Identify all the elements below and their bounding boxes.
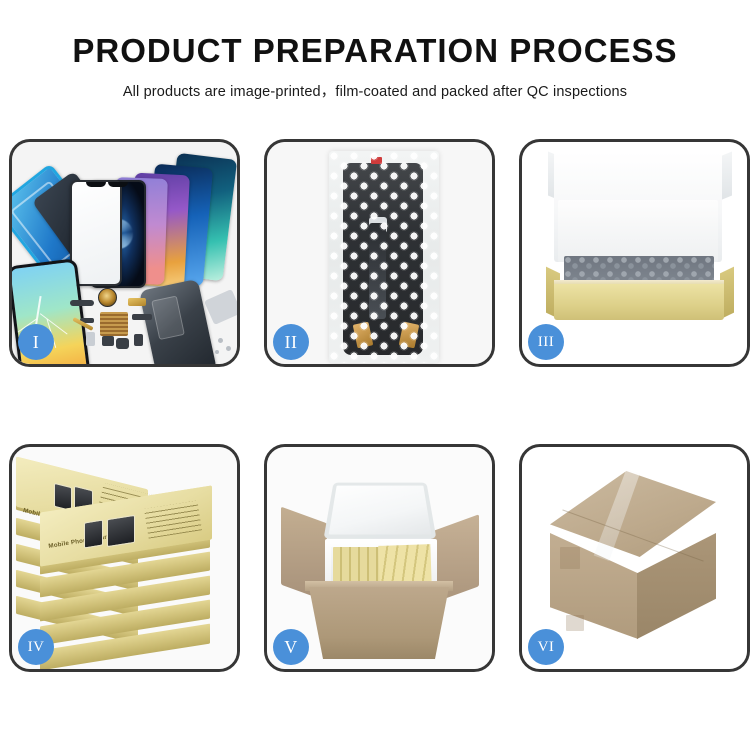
step-3-image: III (522, 142, 747, 364)
process-step-panel-1[interactable]: I (9, 139, 240, 367)
process-step-panel-6[interactable]: VI (519, 444, 750, 672)
button-part (134, 334, 143, 346)
phone-notch (108, 182, 128, 187)
page-header: PRODUCT PREPARATION PROCESS All products… (0, 0, 750, 101)
protector-notch (86, 182, 106, 187)
flex-cable-part (128, 298, 146, 306)
step-6-image: VI (522, 447, 747, 669)
page-subtitle: All products are image-printed，film-coat… (0, 80, 750, 101)
yellow-boxes-inside (378, 544, 431, 586)
step-badge-6: VI (528, 629, 564, 665)
process-step-panel-5[interactable]: V (264, 444, 495, 672)
step-badge-2: II (273, 324, 309, 360)
bracket-part (132, 314, 152, 320)
step-badge-3: III (528, 324, 564, 360)
screw-part (218, 338, 223, 343)
process-step-panel-2[interactable]: II (264, 139, 495, 367)
process-step-panel-3[interactable]: III (519, 139, 750, 367)
screw-part (215, 350, 219, 354)
step-4-image: Mobile Phone Spare Parts Mobile Phone Sp… (12, 447, 237, 669)
step-badge-1: I (18, 324, 54, 360)
box-product-thumb (84, 519, 103, 548)
step-1-image: I (12, 142, 237, 364)
carton-flap-patch (560, 547, 580, 569)
camera-module-part (98, 288, 117, 307)
styrofoam-lid (324, 483, 437, 539)
carton-front-wall (309, 587, 449, 659)
process-step-panel-4[interactable]: Mobile Phone Spare Parts Mobile Phone Sp… (9, 444, 240, 672)
page-title: PRODUCT PREPARATION PROCESS (0, 34, 750, 69)
bubble-texture (329, 151, 439, 363)
box-product-thumb (107, 515, 135, 547)
process-step-grid: I II (9, 139, 741, 672)
step-badge-4: IV (18, 629, 54, 665)
yellow-box-front (554, 284, 724, 320)
white-foam-front (558, 200, 718, 262)
bubble-wrap-bag (329, 151, 439, 363)
sim-tray-part (86, 332, 95, 346)
vibrator-part (102, 336, 114, 346)
screw-part (226, 346, 231, 351)
taptic-part (116, 338, 129, 349)
step-5-image: V (267, 447, 492, 669)
step-2-image: II (267, 142, 492, 364)
heatsink-mesh-part (100, 312, 128, 336)
carton-flap-patch (566, 615, 584, 631)
speaker-part (70, 300, 94, 306)
step-badge-5: V (273, 629, 309, 665)
